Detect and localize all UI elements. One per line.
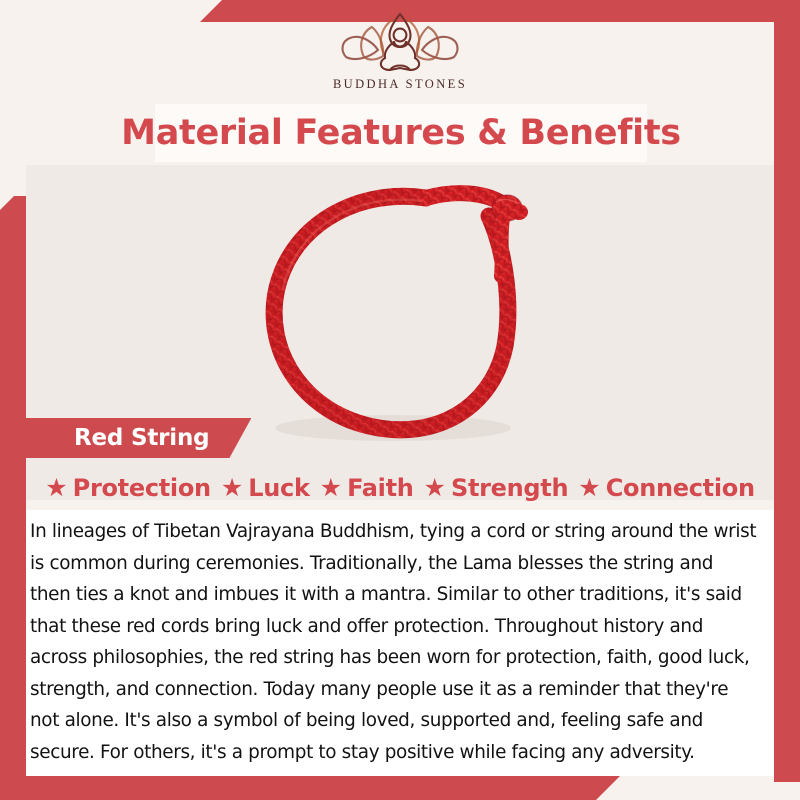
brand-wordmark: BUDDHA STONES: [333, 77, 467, 92]
description-text: In lineages of Tibetan Vajrayana Buddhis…: [30, 516, 758, 768]
product-label-banner: Red String: [26, 418, 251, 458]
benefit-item-connection: ★ Connection: [578, 474, 754, 502]
product-label: Red String: [74, 425, 209, 451]
benefits-row: ★ Protection ★ Luck ★ Faith ★ Strength ★…: [26, 466, 774, 510]
benefit-item-faith: ★ Faith: [320, 474, 414, 502]
benefit-item-protection: ★ Protection: [45, 474, 211, 502]
description-card: In lineages of Tibetan Vajrayana Buddhis…: [26, 510, 774, 776]
benefit-label: Luck: [248, 474, 309, 502]
star-icon: ★: [424, 476, 446, 501]
page-title: Material Features & Benefits: [121, 113, 681, 153]
benefit-item-luck: ★ Luck: [221, 474, 310, 502]
brand-header: BUDDHA STONES: [0, 0, 800, 100]
lotus-meditation-icon: [334, 12, 466, 74]
benefit-label: Protection: [73, 474, 211, 502]
title-banner: Material Features & Benefits: [155, 104, 647, 162]
benefit-label: Faith: [347, 474, 413, 502]
red-string-bracelet-image: [241, 165, 571, 470]
benefit-item-strength: ★ Strength: [424, 474, 569, 502]
decor-bar-right: [774, 22, 800, 782]
poster-root: BUDDHA STONES Material Features & Benefi…: [0, 0, 800, 800]
star-icon: ★: [221, 476, 243, 501]
decor-bar-left: [0, 196, 26, 786]
star-icon: ★: [45, 476, 67, 501]
benefit-label: Connection: [606, 474, 755, 502]
star-icon: ★: [320, 476, 342, 501]
decor-bar-bottom: [0, 776, 620, 800]
star-icon: ★: [578, 476, 600, 501]
benefit-label: Strength: [451, 474, 568, 502]
